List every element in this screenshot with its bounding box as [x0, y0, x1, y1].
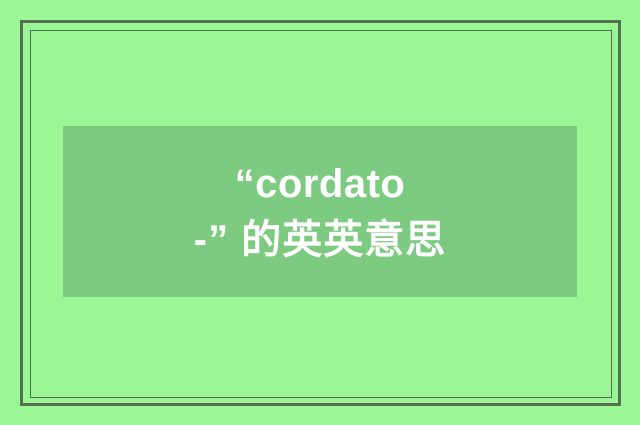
banner-title-line-2: -” 的英英意思 — [194, 220, 446, 260]
title-banner: “cordato -” 的英英意思 — [63, 126, 577, 297]
image-canvas: “cordato -” 的英英意思 — [0, 0, 640, 425]
banner-title-line-1: “cordato — [235, 164, 406, 204]
